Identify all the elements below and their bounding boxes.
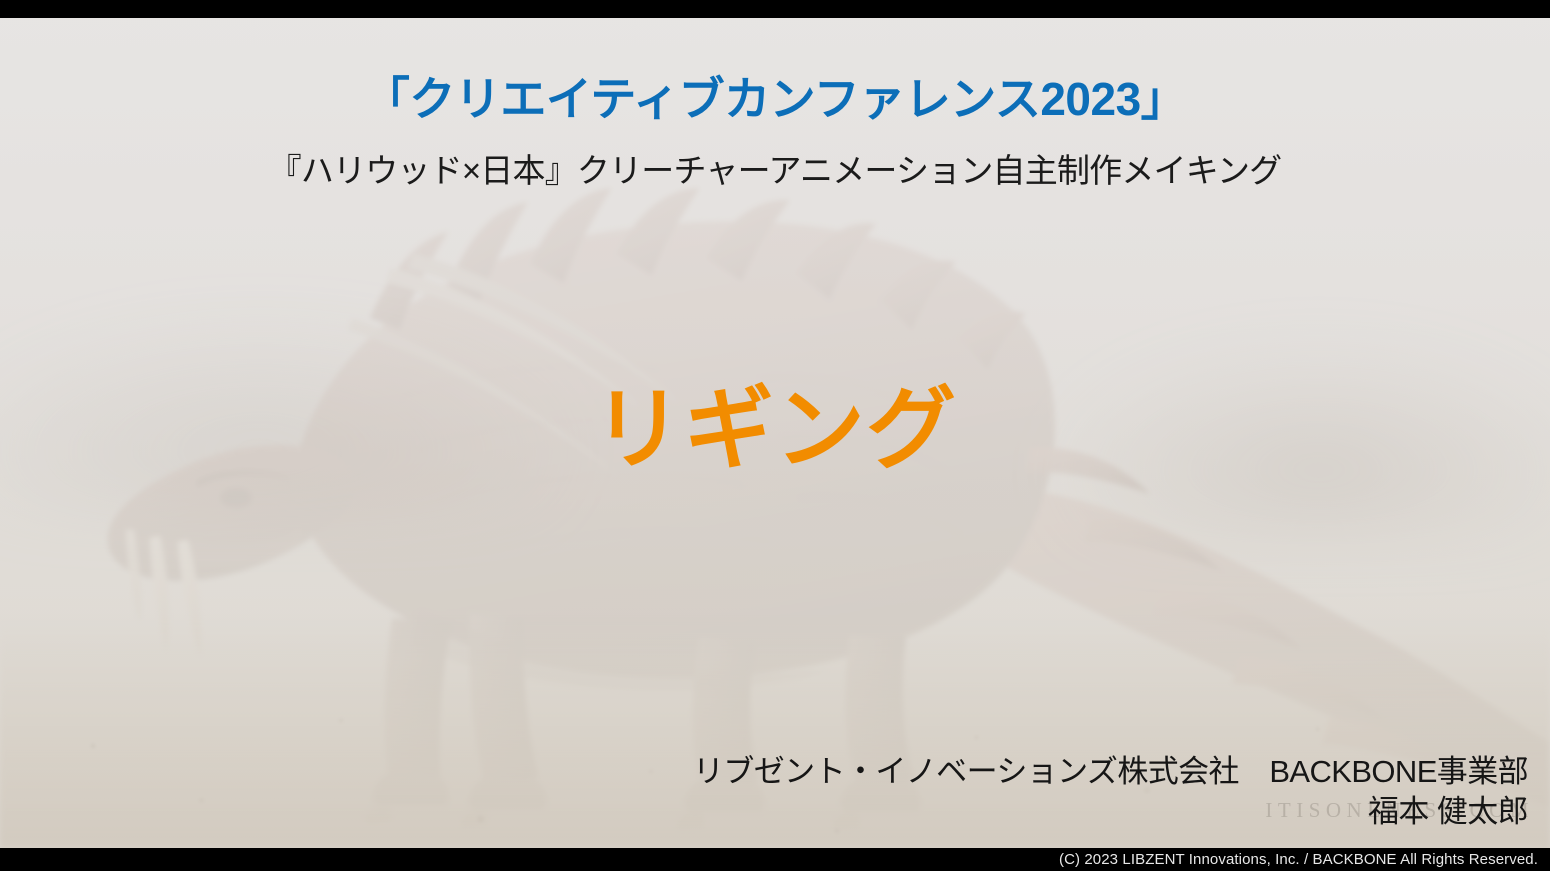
copyright-notice: (C) 2023 LIBZENT Innovations, Inc. / BAC…	[0, 848, 1550, 871]
credit-company: リブゼント・イノベーションズ株式会社 BACKBONE事業部	[693, 754, 1528, 789]
top-letterbox-bar	[0, 0, 1550, 18]
section-title: リギング	[0, 385, 1550, 475]
credits-block: リブゼント・イノベーションズ株式会社 BACKBONE事業部 福本 健太郎	[693, 752, 1528, 831]
presentation-slide: ITISONENESS.COM 「クリエイティブカンファレンス2023」 『ハリ…	[0, 0, 1550, 871]
conference-subtitle: 『ハリウッド×日本』クリーチャーアニメーション自主制作メイキング	[0, 144, 1550, 192]
credit-author: 福本 健太郎	[693, 792, 1528, 832]
slide-text-layer: 「クリエイティブカンファレンス2023」 『ハリウッド×日本』クリーチャーアニメ…	[0, 0, 1550, 871]
conference-title: 「クリエイティブカンファレンス2023」	[0, 63, 1550, 129]
